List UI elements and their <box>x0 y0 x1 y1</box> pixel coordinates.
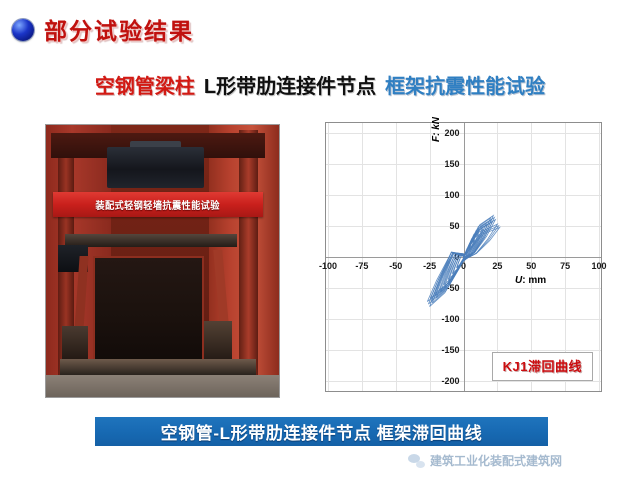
photo-base-fixture-right <box>204 321 232 359</box>
chart-y-axis-label: F: kN <box>431 117 442 142</box>
photo-red-banner: 装配式轻钢轻墙抗震性能试验 <box>53 192 263 218</box>
subtitle: 空钢管梁柱L形带肋连接件节点框架抗震性能试验 <box>0 74 640 100</box>
photo-base-beam <box>60 359 256 375</box>
watermark: 建筑工业化装配式建筑网 <box>408 452 562 469</box>
photo-loading-beam <box>65 234 237 248</box>
blue-sphere-bullet-icon <box>12 19 34 41</box>
chart-plot-area: -100-75-50-250255075100200150100500-50-1… <box>326 123 601 391</box>
chart-legend-label: KJ1滞回曲线 <box>503 359 582 374</box>
chart-x-axis-label: U: mm <box>515 275 546 286</box>
wechat-bubbles-icon <box>408 454 425 468</box>
hysteresis-chart: -100-75-50-250255075100200150100500-50-1… <box>325 122 602 392</box>
subtitle-segment-black: L形带肋连接件节点 <box>204 76 376 98</box>
photo-banner-text: 装配式轻钢轻墙抗震性能试验 <box>96 197 220 212</box>
photo-hydraulic-actuator <box>107 147 205 188</box>
photo-reaction-column-right <box>239 130 258 386</box>
subtitle-segment-red: 空钢管梁柱 <box>95 76 195 98</box>
slide-header: 部分试验结果 <box>0 14 640 50</box>
photo-wall-specimen <box>93 256 204 363</box>
chart-legend: KJ1滞回曲线 <box>492 352 593 381</box>
chart-series-hysteresis <box>326 123 601 391</box>
subtitle-segment-blue: 框架抗震性能试验 <box>385 76 545 98</box>
watermark-text: 建筑工业化装配式建筑网 <box>430 452 562 469</box>
photo-floor <box>46 375 279 397</box>
photo-base-fixture-left <box>62 326 88 359</box>
caption-bar: 空钢管-L形带肋连接件节点 框架滞回曲线 <box>95 417 548 446</box>
page-title: 部分试验结果 <box>44 14 194 48</box>
seismic-test-rig-photo: 装配式轻钢轻墙抗震性能试验 <box>45 124 280 398</box>
caption-text: 空钢管-L形带肋连接件节点 框架滞回曲线 <box>161 419 483 444</box>
